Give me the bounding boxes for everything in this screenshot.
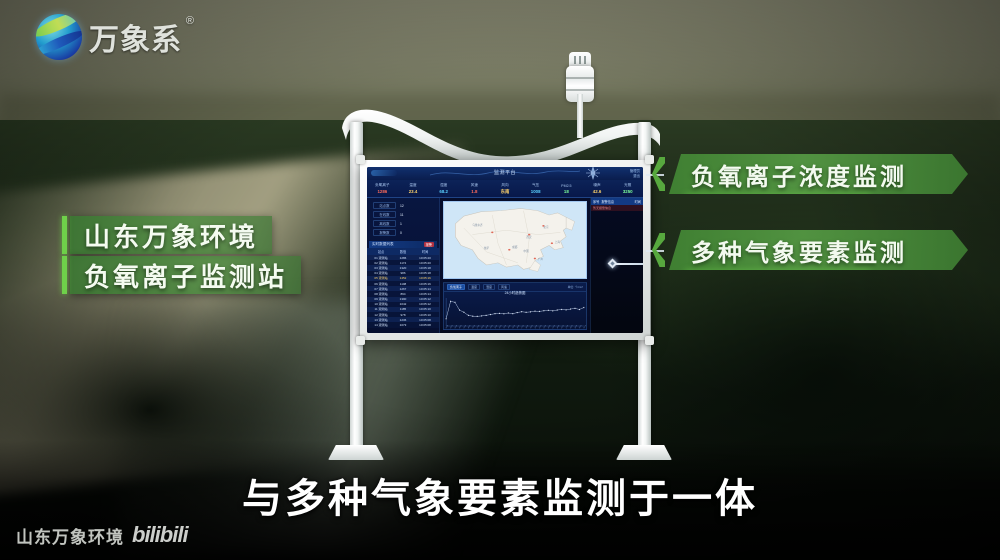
table-cell: 1073 [392,323,414,327]
kpi-value: 3250 [623,189,633,194]
mini-stats-list: 站点数12在线数11离线数1报警数0 [367,198,439,239]
mini-stat-row: 站点数12 [373,202,433,209]
brand-name: 万象系 [89,24,182,57]
table-row[interactable]: 13 观测站123610:05:08 [367,317,439,322]
table-cell: 01 观测站 [370,256,392,260]
table-row[interactable]: 05 观测站145210:05:16 [367,276,439,281]
kpi-label: 噪声 [593,183,600,188]
table-cell: 02 观测站 [370,261,392,265]
map-city-label: 乌鲁木齐 [472,223,482,227]
table-column-header: 数值 [392,249,414,254]
left-banner-1-accent [62,216,67,254]
kpi-value: 68.2 [439,189,448,194]
kpi-label: 温度 [409,183,416,188]
alert-panel-header: 序号报警信息时间 [591,198,643,205]
right-banner-2-label: 多种气象要素监测 [669,233,925,268]
svg-text:07:00: 07:00 [477,325,480,329]
compass-icon [585,167,601,180]
mini-stat-row: 报警数0 [373,229,433,236]
kpi-value: 18 [564,189,569,194]
table-row[interactable]: 07 观测站126710:05:14 [367,286,439,291]
chart-plot: 00:0001:0002:0003:0004:0005:0006:0007:00… [444,295,586,329]
mini-stat-key: 离线数 [373,220,396,227]
svg-text:09:00: 09:00 [486,325,489,329]
table-cell: 1267 [392,287,414,291]
brand-logo-text: 万象系 ® [89,15,182,59]
callout-leader-line [615,263,643,265]
chevron-left-icon [652,233,665,267]
table-cell: 1390 [392,297,414,301]
svg-text:29:00: 29:00 [574,325,577,329]
table-cell: 10:05:12 [414,297,436,301]
table-cell: 10:05:08 [414,318,436,322]
dashboard-body: 站点数12在线数11离线数1报警数0 实时数据列表 报警 站点数值时间 01 观… [367,198,643,333]
svg-text:14:00: 14:00 [508,325,511,329]
kpi-label: 风向 [501,183,508,188]
table-row[interactable]: 01 观测站128610:05:20 [367,255,439,260]
display-monitor: 监测平台 管理员 退出 负氧离子1286温度23.4湿度68.2风速1.8风向东… [360,160,650,340]
dashboard-logout[interactable]: 退出 [630,174,640,179]
svg-text:24:00: 24:00 [552,325,555,329]
table-cell: 10:05:16 [414,276,436,280]
trend-chart: 负氧离子温度湿度风速 单位: 个/cm³ 24小时趋势图 00:0001:000… [443,282,587,330]
svg-text:06:00: 06:00 [472,325,475,329]
table-cell: 11 观测站 [370,307,392,311]
left-banner-2-label: 负氧离子监测站 [70,257,301,294]
svg-text:11:00: 11:00 [494,325,497,329]
monitor-bracket-top-left [356,155,365,164]
table-cell: 10 观测站 [370,302,392,306]
table-row[interactable]: 11 观测站118510:05:10 [367,307,439,312]
table-cell: 06 观测站 [370,282,392,286]
svg-text:17:00: 17:00 [521,325,524,329]
mini-stat-value: 11 [400,213,404,217]
table-cell: 10:05:18 [414,266,436,270]
monitor-bracket-bottom-right [645,336,654,345]
table-cell: 10:05:20 [414,256,436,260]
dashboard-center-column: 北京上海广州成都西安乌鲁木齐拉萨中国 负氧离子温度湿度风速 单位: 个/cm³ … [440,198,590,333]
svg-text:02:00: 02:00 [454,325,457,329]
table-cell: 1042 [392,302,414,306]
left-banner-2-accent [62,256,67,294]
kpi-label: PM2.5 [561,184,571,188]
table-cell: 10:05:16 [414,282,436,286]
dashboard-header: 监测平台 管理员 退出 [367,167,643,180]
svg-text:19:00: 19:00 [530,325,533,329]
table-row[interactable]: 12 观测站97810:05:10 [367,312,439,317]
mini-stat-row: 离线数1 [373,220,433,227]
mini-stat-key: 在线数 [373,211,396,218]
left-banner-1: 山东万象环境 [70,216,272,254]
kpi-tile[interactable]: PM2.518 [551,180,582,197]
kpi-value: 1286 [377,189,387,194]
mini-stat-value: 1 [400,222,402,226]
map-city-label: 拉萨 [484,246,489,250]
table-cell: 03 观测站 [370,266,392,270]
table-cell: 1286 [392,256,414,260]
map-city-label: 广州 [538,257,543,261]
table-row[interactable]: 04 观测站98610:05:18 [367,271,439,276]
subtitle-caption: 与多种气象要素监测于一体 [0,466,1000,524]
svg-text:01:00: 01:00 [450,325,453,329]
kpi-value: 42.6 [593,189,602,194]
svg-text:25:00: 25:00 [557,325,560,329]
radiation-shield-sensor [562,52,598,138]
table-cell: 1174 [392,261,414,265]
sensor-pole [577,94,583,138]
table-column-header: 时间 [414,249,436,254]
watermark: 山东万象环境 bilibili [16,522,188,548]
kpi-value: 23.4 [409,189,418,194]
table-cell: 08 观测站 [370,292,392,296]
svg-text:23:00: 23:00 [548,325,551,329]
svg-text:16:00: 16:00 [517,325,520,329]
brand-logo: 万象系 ® [36,14,182,60]
right-banner-2-body: 多种气象要素监测 [669,230,968,270]
table-cell: 1185 [392,307,414,311]
kpi-tile[interactable]: 湿度68.2 [428,180,459,197]
svg-text:31:00: 31:00 [583,325,586,329]
kpi-tile[interactable]: 温度23.4 [398,180,429,197]
table-cell: 978 [392,313,414,317]
dashboard-screen[interactable]: 监测平台 管理员 退出 负氧离子1286温度23.4湿度68.2风速1.8风向东… [367,167,643,333]
kpi-label: 光照 [624,183,631,188]
chevron-left-icon [652,157,665,191]
kpi-tile[interactable]: 噪声42.6 [582,180,613,197]
table-alarm-badge: 报警 [424,242,434,247]
alert-panel-column: 报警信息 [601,199,614,204]
registered-mark: ® [186,15,195,27]
mini-stat-value: 12 [400,204,404,208]
watermark-text: 山东万象环境 [16,523,124,548]
svg-text:08:00: 08:00 [481,325,484,329]
station-arch [338,90,664,170]
right-banner-1-label: 负氧离子浓度监测 [669,157,925,192]
table-body[interactable]: 01 观测站128610:05:2002 观测站117410:05:2003 观… [367,255,439,333]
table-row[interactable]: 08 观测站89410:05:14 [367,291,439,296]
kpi-tile[interactable]: 风向东南 [490,180,521,197]
right-banner-2: 多种气象要素监测 [652,228,968,272]
svg-text:22:00: 22:00 [543,325,546,329]
table-cell: 14 观测站 [370,323,392,327]
table-cell: 1236 [392,318,414,322]
kpi-row: 负氧离子1286温度23.4湿度68.2风速1.8风向东南气压1008PM2.5… [367,180,643,198]
table-cell: 10:05:10 [414,307,436,311]
svg-text:05:00: 05:00 [468,325,471,329]
svg-text:13:00: 13:00 [503,325,506,329]
kpi-label: 负氧离子 [375,183,389,188]
table-cell: 1108 [392,282,414,286]
base-plate-left [328,445,384,460]
dashboard-right-column: 序号报警信息时间 暂无报警信息 [590,198,643,333]
table-cell: 10:05:20 [414,261,436,265]
kpi-label: 气压 [532,183,539,188]
kpi-label: 湿度 [440,183,447,188]
svg-text:27:00: 27:00 [566,325,569,329]
mini-stat-key: 站点数 [373,202,396,209]
dashboard-title: 监测平台 [367,169,643,176]
table-column-headers: 站点数值时间 [367,248,439,255]
table-cell: 09 观测站 [370,297,392,301]
mini-stat-key: 报警数 [373,229,396,236]
table-row[interactable]: 10 观测站104210:05:12 [367,302,439,307]
map-city-label: 上海 [555,240,560,244]
svg-text:03:00: 03:00 [459,325,462,329]
mini-stat-row: 在线数11 [373,211,433,218]
kpi-tile[interactable]: 光照3250 [612,180,643,197]
table-row[interactable]: 06 观测站110810:05:16 [367,281,439,286]
table-cell: 10:05:14 [414,287,436,291]
table-row[interactable]: 02 观测站117410:05:20 [367,260,439,265]
monitor-bracket-bottom-left [356,336,365,345]
svg-text:10:00: 10:00 [490,325,493,329]
dashboard-user-box[interactable]: 管理员 退出 [630,169,640,179]
table-cell: 04 观测站 [370,271,392,275]
table-cell: 986 [392,271,414,275]
left-banner-2: 负氧离子监测站 [70,256,301,294]
chart-unit-note: 单位: 个/cm³ [568,285,583,289]
kpi-value: 东南 [501,189,510,195]
alert-panel-column: 序号 [593,199,599,204]
svg-text:04:00: 04:00 [463,325,466,329]
table-cell: 07 观测站 [370,287,392,291]
table-row[interactable]: 14 观测站107310:05:08 [367,322,439,327]
kpi-tile[interactable]: 风速1.8 [459,180,490,197]
map-city-label: 西安 [526,235,531,239]
table-cell: 10:05:08 [414,323,436,327]
monitoring-station: 监测平台 管理员 退出 负氧离子1286温度23.4湿度68.2风速1.8风向东… [300,60,700,460]
kpi-value: 1008 [531,189,541,194]
screenshot-stage: 万象系 ® [0,0,1000,560]
table-cell: 10:05:12 [414,302,436,306]
right-banner-1: 负氧离子浓度监测 [652,152,968,196]
kpi-label: 风速 [471,183,478,188]
table-title: 实时数据列表 [372,242,394,247]
map-city-label: 北京 [543,225,548,229]
map-city-label: 中国 [524,249,529,253]
kpi-tile[interactable]: 负氧离子1286 [367,180,398,197]
table-title-bar: 实时数据列表 报警 [369,241,437,248]
svg-text:30:00: 30:00 [579,325,582,329]
table-cell: 1452 [392,276,414,280]
kpi-value: 1.8 [471,189,477,194]
svg-text:21:00: 21:00 [539,325,542,329]
table-column-header: 站点 [370,249,392,254]
table-cell: 894 [392,292,414,296]
dashboard-left-column: 站点数12在线数11离线数1报警数0 实时数据列表 报警 站点数值时间 01 观… [367,198,440,333]
kpi-tile[interactable]: 气压1008 [520,180,551,197]
alert-panel-column: 时间 [635,199,641,204]
table-cell: 13 观测站 [370,318,392,322]
svg-text:20:00: 20:00 [534,325,537,329]
bilibili-logo: bilibili [132,522,188,548]
table-row[interactable]: 03 观测站132010:05:18 [367,265,439,270]
svg-text:26:00: 26:00 [561,325,564,329]
table-cell: 1320 [392,266,414,270]
china-map[interactable]: 北京上海广州成都西安乌鲁木齐拉萨中国 [443,201,587,279]
table-cell: 10:05:10 [414,313,436,317]
mini-stat-value: 0 [400,231,402,235]
base-plate-right [616,445,672,460]
table-row[interactable]: 09 观测站139010:05:12 [367,297,439,302]
table-cell: 10:05:18 [414,271,436,275]
right-banner-1-body: 负氧离子浓度监测 [669,154,968,194]
table-cell: 05 观测站 [370,276,392,280]
left-banner-1-label: 山东万象环境 [70,217,272,254]
map-city-label: 成都 [512,245,517,249]
svg-text:12:00: 12:00 [499,325,502,329]
table-cell: 12 观测站 [370,313,392,317]
svg-text:28:00: 28:00 [570,325,573,329]
table-cell: 10:05:14 [414,292,436,296]
svg-text:18:00: 18:00 [526,325,529,329]
globe-swirl-icon [36,14,82,60]
alert-panel-message: 暂无报警信息 [591,205,643,211]
svg-text:15:00: 15:00 [512,325,515,329]
